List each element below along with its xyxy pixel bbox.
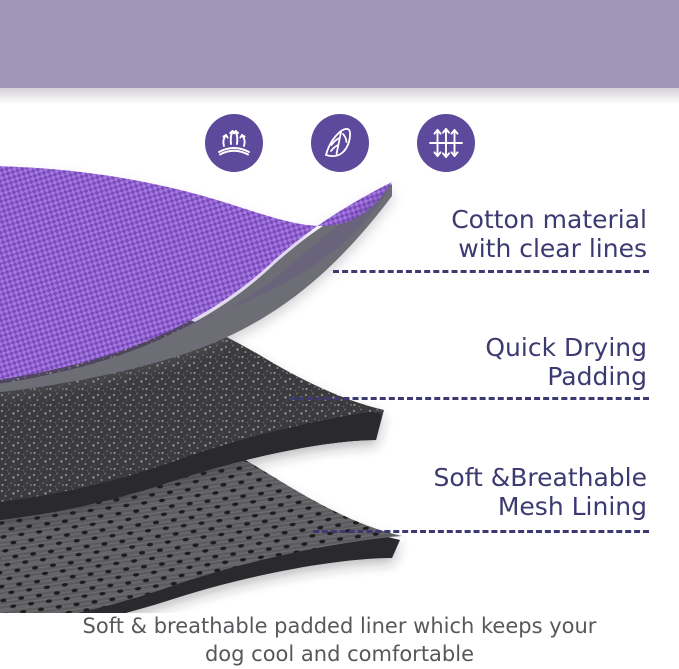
air-permeability-icon: [417, 114, 475, 172]
header-banner-shadow: [0, 88, 679, 104]
feather-softness-icon: [311, 114, 369, 172]
callout-2-line-2: Padding: [329, 362, 647, 391]
caption-line-2: dog cool and comfortable: [0, 640, 679, 668]
bottom-caption: Soft & breathable padded liner which kee…: [0, 612, 679, 668]
callout-quick-drying-padding: Quick Drying Padding: [329, 333, 647, 391]
callout-3-line-1: Soft &Breathable: [329, 463, 647, 492]
callout-cotton-material: Cotton material with clear lines: [329, 205, 647, 263]
callout-1-line-1: Cotton material: [329, 205, 647, 234]
callout-1-dashed-connector: [333, 270, 649, 273]
callout-mesh-lining: Soft &Breathable Mesh Lining: [329, 463, 647, 521]
breathability-icon: [205, 114, 263, 172]
callout-2-line-1: Quick Drying: [329, 333, 647, 362]
feature-icon-row: [205, 112, 475, 174]
product-infographic: THE LONGER THE TIME, THE BETTER: [0, 0, 679, 669]
caption-line-1: Soft & breathable padded liner which kee…: [0, 612, 679, 640]
callout-1-line-2: with clear lines: [329, 234, 647, 263]
callout-3-dashed-connector: [313, 530, 649, 533]
callout-3-line-2: Mesh Lining: [329, 492, 647, 521]
callout-2-dashed-connector: [289, 397, 649, 400]
header-banner: [0, 0, 679, 88]
